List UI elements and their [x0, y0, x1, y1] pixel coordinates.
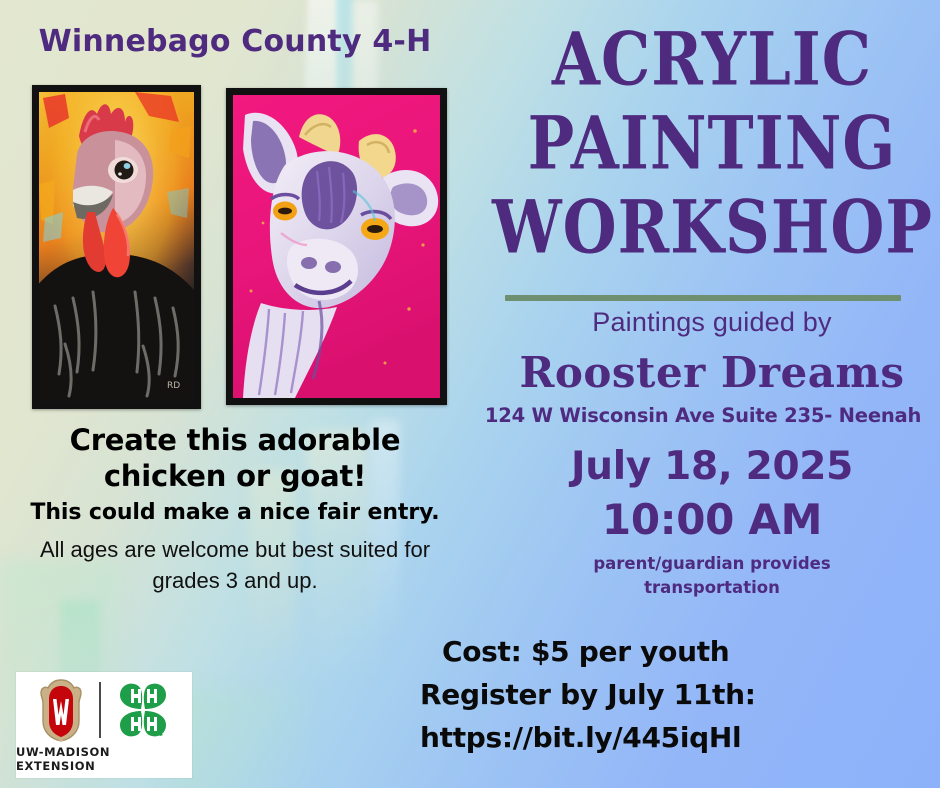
guided-by-label: Paintings guided by	[492, 307, 932, 338]
event-date: July 18, 2025	[492, 444, 932, 489]
logo-marks	[32, 677, 176, 743]
description-line-1: Create this adorable	[10, 422, 460, 458]
4h-clover-icon	[110, 679, 176, 741]
logo-caption: UW-MADISON EXTENSION	[16, 745, 192, 773]
register-by-label: Register by July 11th:	[420, 673, 940, 716]
logo-divider	[99, 682, 101, 738]
description-line-2: chicken or goat!	[10, 458, 460, 494]
studio-address: 124 W Wisconsin Ave Suite 235- Neenah	[470, 404, 936, 427]
headline-block: ACRYLIC PAINTING WORKSHOP	[492, 10, 932, 262]
headline-line-3: WORKSHOP	[492, 178, 932, 277]
cost-label: Cost: $5 per youth	[420, 630, 940, 673]
transportation-note-line-2: transportation	[644, 578, 780, 597]
chicken-painting-frame: RD	[32, 85, 201, 409]
chicken-painting: RD	[39, 92, 194, 402]
description-line-3: This could make a nice fair entry.	[10, 497, 460, 529]
section-divider-rule	[505, 295, 901, 301]
uw-crest-icon	[32, 677, 90, 743]
svg-text:RD: RD	[167, 381, 180, 391]
event-time: 10:00 AM	[492, 495, 932, 544]
registration-block: Cost: $5 per youth Register by July 11th…	[420, 630, 940, 759]
description-block: Create this adorable chicken or goat! Th…	[10, 422, 460, 596]
uw-madison-extension-logo: UW-MADISON EXTENSION	[16, 672, 192, 778]
description-line-4: All ages are welcome but best suited for…	[10, 534, 460, 596]
transportation-note: parent/guardian provides transportation	[492, 552, 932, 600]
goat-painting-frame	[226, 88, 447, 405]
flyer-canvas: Winnebago County 4-H	[0, 0, 940, 788]
goat-painting-artwork	[233, 95, 440, 398]
chicken-painting-artwork: RD	[39, 92, 194, 402]
county-program-title: Winnebago County 4-H	[0, 24, 470, 59]
studio-name: Rooster Dreams	[492, 348, 932, 397]
goat-painting	[233, 95, 440, 398]
registration-url[interactable]: https://bit.ly/445iqHl	[420, 716, 940, 759]
transportation-note-line-1: parent/guardian provides	[593, 554, 830, 573]
